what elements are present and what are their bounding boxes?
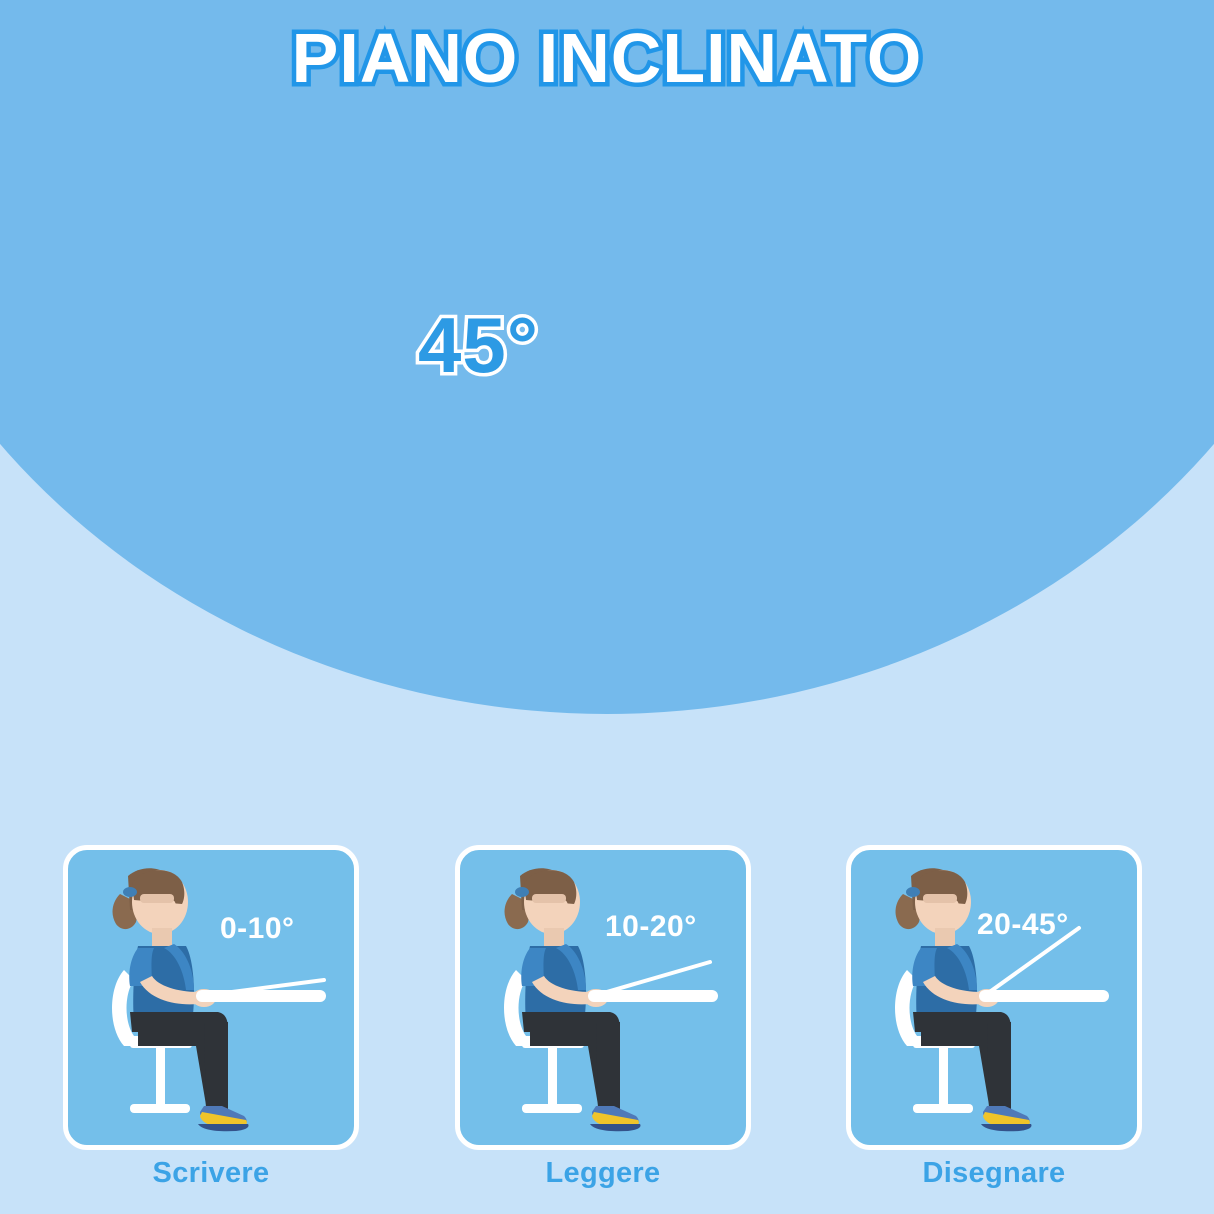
seated-girl-illustration-drawing [851, 850, 1137, 1145]
center-pedestal [455, 738, 565, 788]
seated-girl-illustration-reading [460, 850, 746, 1145]
angle-label-reading: 10-20° [605, 910, 697, 944]
caption-writing: Scrivere [63, 1157, 359, 1190]
jar-toy [1172, 480, 1214, 516]
seated-girl-illustration-writing [68, 850, 354, 1145]
panel-reading[interactable]: 10-20° [455, 845, 751, 1150]
page-title: PIANO INCLINATO [0, 18, 1214, 98]
photo-arc-border [0, 0, 1214, 830]
caption-reading: Leggere [455, 1157, 751, 1190]
panel-writing[interactable]: 0-10° [63, 845, 359, 1150]
jar-toy [1172, 543, 1214, 583]
angle-label-drawing: 20-45° [977, 908, 1069, 942]
hero-photo-section: 45° [0, 0, 1214, 830]
angle-label-writing: 0-10° [220, 912, 295, 946]
caption-drawing: Disegnare [846, 1157, 1142, 1190]
usage-modes-panels: 0-10° [0, 845, 1214, 1214]
rail-slot [905, 672, 913, 690]
panel-drawing[interactable]: 20-45° [846, 845, 1142, 1150]
jar-toy [1178, 512, 1214, 546]
infographic-stage: 45° PIANO INCLINATO [0, 0, 1214, 1214]
angle-45-label: 45° [418, 300, 539, 391]
rail-slot [330, 672, 352, 692]
